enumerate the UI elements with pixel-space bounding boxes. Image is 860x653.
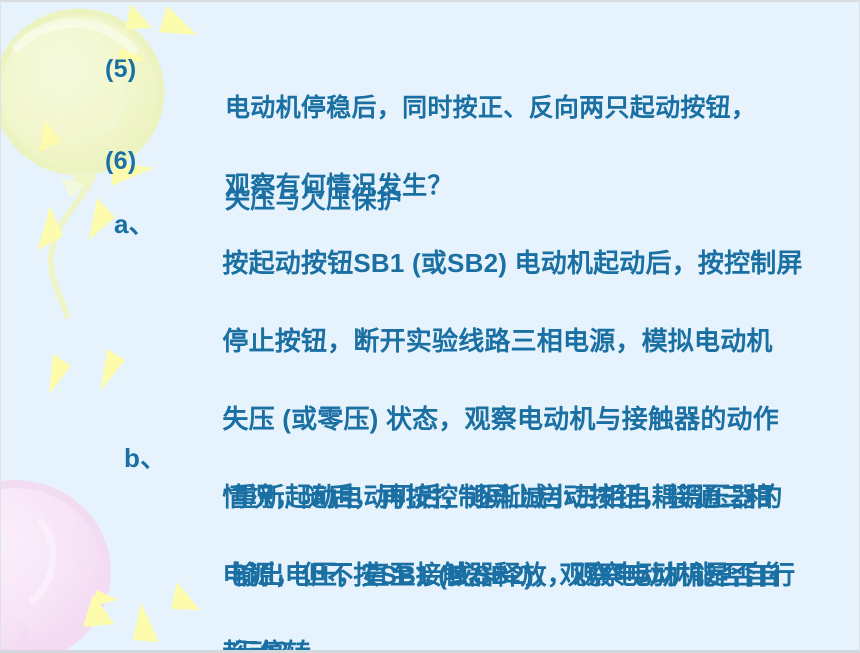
text-line: 按起动按钮SB1 (或SB2) 电动机起动后，按控制屏 bbox=[222, 248, 802, 278]
text-line: 电动机停稳后，同时按正、反向两只起动按钮， bbox=[225, 94, 756, 122]
text-line: 失压 (或零压) 状态，观察电动机与接触器的动作 bbox=[222, 404, 779, 434]
paragraph-item-b-lines: 重新起动电动机后，逐渐减小三相自耦调压器的 输出电压，直至接触器释放，观察电动机… bbox=[173, 439, 783, 653]
list-marker-6: (6) bbox=[105, 142, 167, 181]
list-marker-5: (5) bbox=[105, 50, 167, 89]
slide-text-content: (5) 电动机停稳后，同时按正、反向两只起动按钮， 观察有何情况发生？ (6) … bbox=[1, 2, 860, 653]
text-line: 行停转。 bbox=[232, 638, 337, 653]
list-marker-a: a、 bbox=[114, 205, 163, 244]
list-marker-b: b、 bbox=[124, 439, 173, 478]
text-line: 重新起动电动机后，逐渐减小三相自耦调压器的 bbox=[232, 482, 782, 512]
text-line: 输出电压，直至接触器释放，观察电动机是否自 bbox=[232, 560, 782, 590]
paragraph-item-b: b、 重新起动电动机后，逐渐减小三相自耦调压器的 输出电压，直至接触器释放，观察… bbox=[124, 439, 783, 653]
text-line: 停止按钮，断开实验线路三相电源，模拟电动机 bbox=[222, 326, 772, 356]
slide-canvas: (5) 电动机停稳后，同时按正、反向两只起动按钮， 观察有何情况发生？ (6) … bbox=[0, 0, 860, 653]
